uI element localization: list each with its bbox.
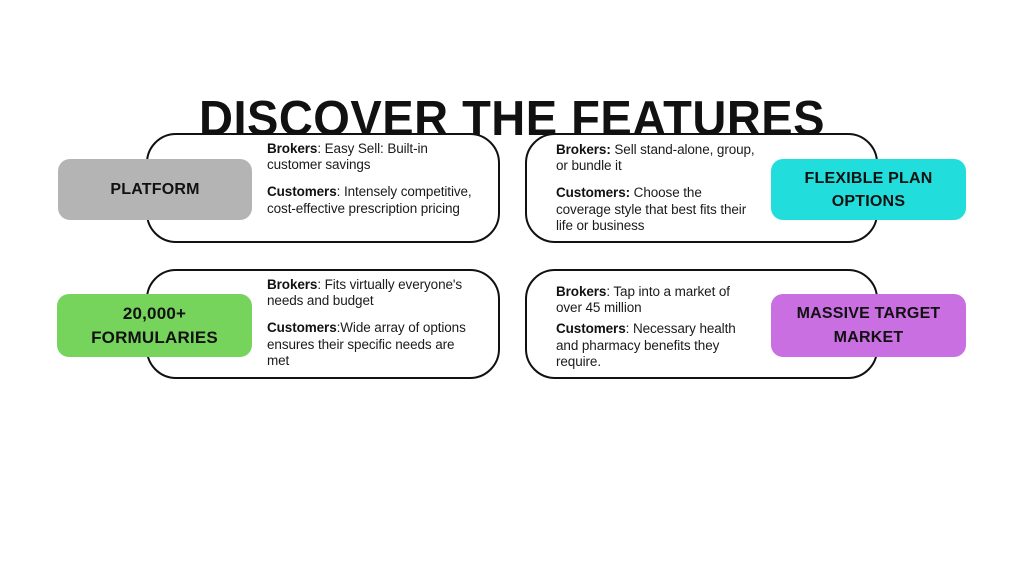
- chip-line-1: MASSIVE TARGET: [797, 305, 941, 322]
- customers-label-platform: Customers: [267, 184, 337, 199]
- customers-label-target-market: Customers: [556, 321, 626, 336]
- chip-line-2: MARKET: [834, 329, 904, 346]
- slide-canvas: DISCOVER THE FEATURES Brokers: Easy Sell…: [0, 0, 1024, 576]
- chip-line-2: FORMULARIES: [91, 328, 218, 347]
- feature-chip-label-platform: PLATFORM: [110, 180, 199, 200]
- chip-line-1: FLEXIBLE PLAN: [805, 170, 933, 187]
- brokers-label-target-market: Brokers: [556, 284, 606, 299]
- brokers-separator-formularies: :: [317, 277, 324, 292]
- customers-line-platform: Customers: Intensely competitive, cost-e…: [267, 184, 482, 216]
- body-spacer: [556, 174, 756, 185]
- feature-chip-label-target-market: MASSIVE TARGETMARKET: [797, 302, 941, 350]
- customers-line-target-market: Customers: Necessary health and pharmacy…: [556, 321, 756, 370]
- feature-chip-formularies[interactable]: 20,000+FORMULARIES: [57, 294, 252, 357]
- feature-chip-label-flexible-plan: FLEXIBLE PLANOPTIONS: [805, 167, 933, 213]
- brokers-line-platform: Brokers: Easy Sell: Built-in customer sa…: [267, 141, 482, 173]
- brokers-label-platform: Brokers: [267, 141, 317, 156]
- brokers-line-formularies: Brokers: Fits virtually everyone's needs…: [267, 277, 477, 309]
- feature-chip-flexible-plan[interactable]: FLEXIBLE PLANOPTIONS: [771, 159, 966, 220]
- feature-body-platform: Brokers: Easy Sell: Built-in customer sa…: [267, 141, 482, 217]
- customers-label-flexible-plan: Customers:: [556, 185, 630, 200]
- brokers-separator-platform: :: [317, 141, 324, 156]
- customers-line-formularies: Customers:Wide array of options ensures …: [267, 320, 477, 369]
- feature-chip-platform[interactable]: PLATFORM: [58, 159, 252, 220]
- feature-chip-label-formularies: 20,000+FORMULARIES: [91, 302, 218, 350]
- brokers-line-target-market: Brokers: Tap into a market of over 45 mi…: [556, 284, 756, 316]
- brokers-label-formularies: Brokers: [267, 277, 317, 292]
- chip-line-1: 20,000+: [123, 304, 186, 323]
- customers-line-flexible-plan: Customers: Choose the coverage style tha…: [556, 185, 756, 234]
- brokers-line-flexible-plan: Brokers: Sell stand-alone, group, or bun…: [556, 142, 756, 174]
- brokers-label-flexible-plan: Brokers:: [556, 142, 611, 157]
- customers-label-formularies: Customers: [267, 320, 337, 335]
- body-spacer: [267, 173, 482, 184]
- chip-line-2: OPTIONS: [832, 193, 905, 210]
- feature-chip-target-market[interactable]: MASSIVE TARGETMARKET: [771, 294, 966, 357]
- feature-body-formularies: Brokers: Fits virtually everyone's needs…: [267, 277, 477, 369]
- feature-body-flexible-plan: Brokers: Sell stand-alone, group, or bun…: [556, 142, 756, 234]
- feature-body-target-market: Brokers: Tap into a market of over 45 mi…: [556, 284, 756, 370]
- customers-separator-platform: :: [337, 184, 344, 199]
- body-spacer: [267, 309, 477, 320]
- customers-separator-target-market: :: [626, 321, 633, 336]
